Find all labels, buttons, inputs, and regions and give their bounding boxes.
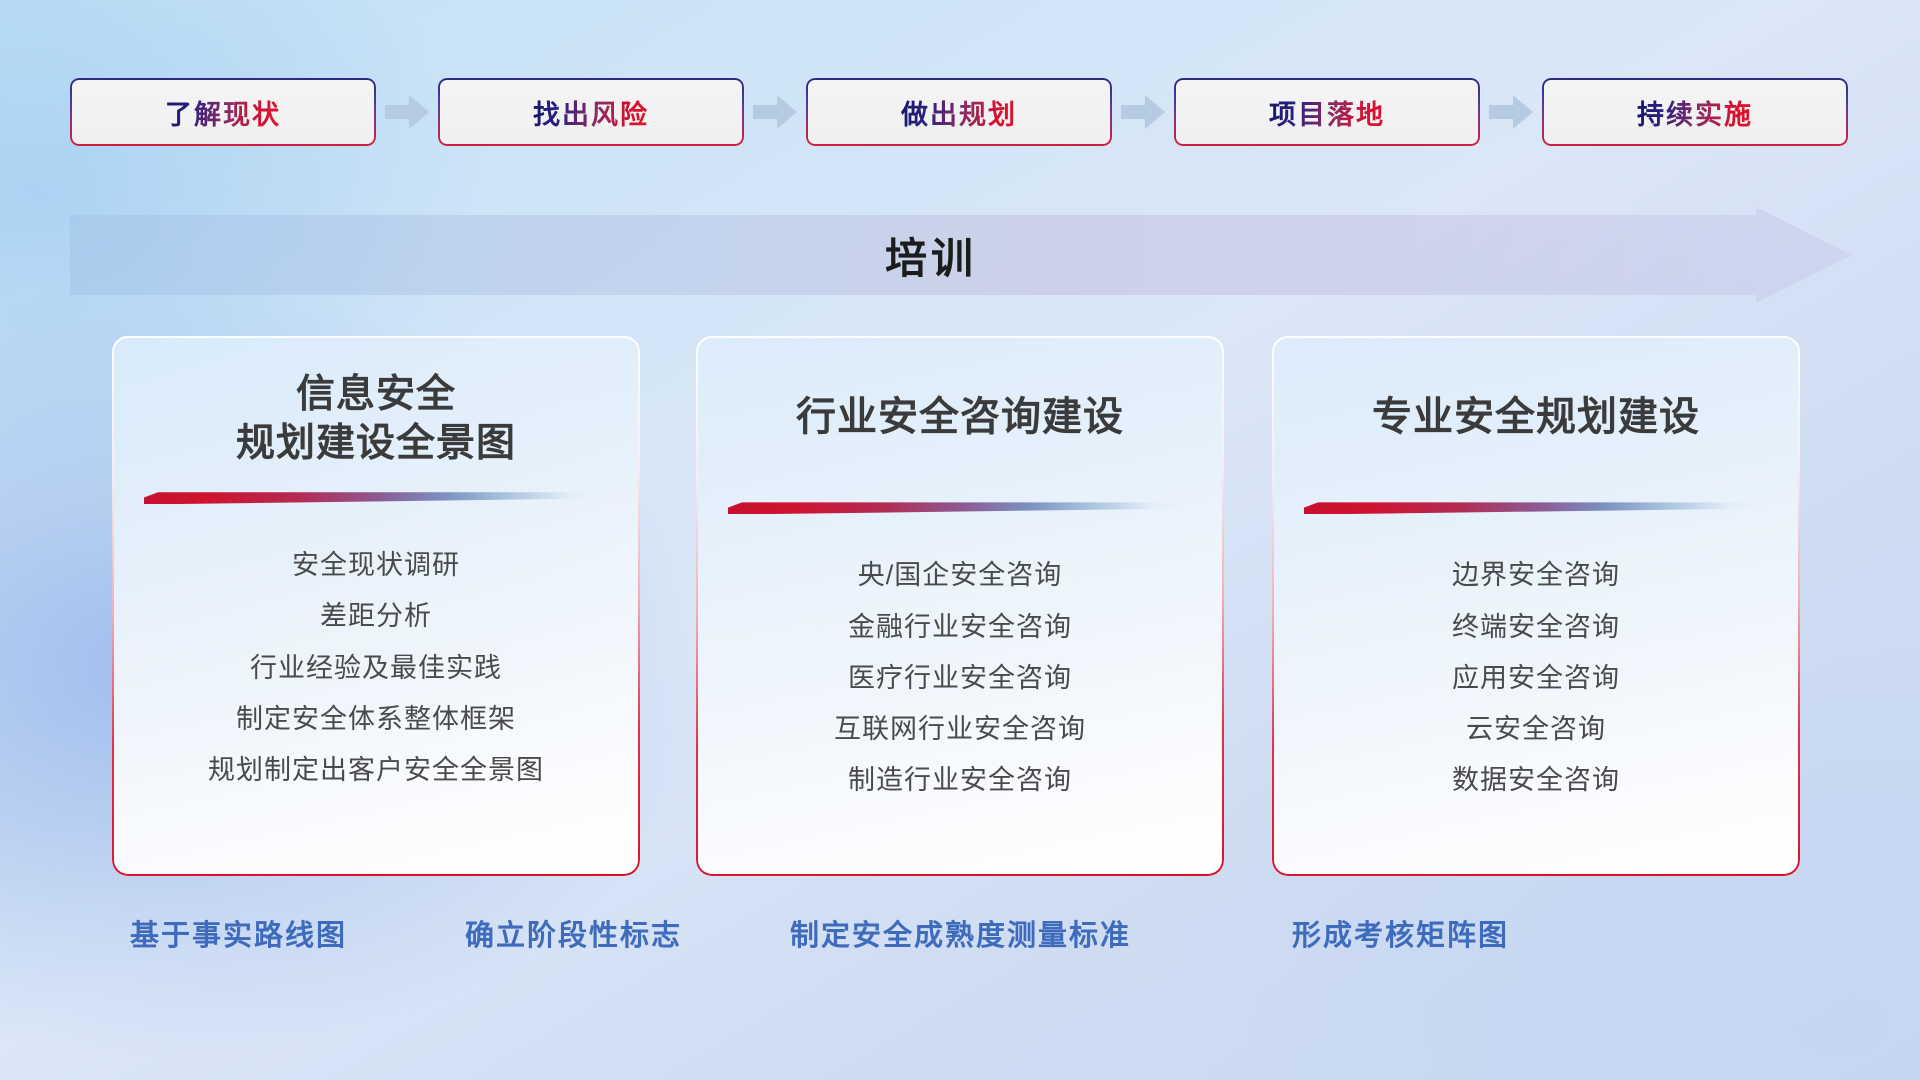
step-label-0: 了解现状 [165,93,281,132]
card-accent-divider [144,492,596,504]
card-title-0: 信息安全 规划建设全景图 [236,370,516,468]
step-box-0[interactable]: 了解现状 [70,78,376,146]
step-box-3[interactable]: 项目落地 [1174,78,1480,146]
arrow-right-icon [376,78,438,146]
card-group: 信息安全 规划建设全景图 安全现状调研 差距分析 行业经验及最佳实践 制定安全体… [0,336,1920,884]
list-item: 终端安全咨询 [1452,608,1620,647]
footnote-0: 基于事实路线图 [130,912,347,954]
card-divider-wrap-1 [722,496,1198,526]
list-item: 应用安全咨询 [1452,659,1620,698]
list-item: 安全现状调研 [292,546,460,585]
step-box-1[interactable]: 找出风险 [438,78,744,146]
banner-title: 培训 [70,207,1852,303]
footnote-3: 形成考核矩阵图 [1292,912,1509,954]
card-accent-divider [1304,502,1756,514]
list-item: 边界安全咨询 [1452,556,1620,595]
card-list-2: 边界安全咨询 终端安全咨询 应用安全咨询 云安全咨询 数据安全咨询 [1298,556,1774,800]
step-box-4[interactable]: 持续实施 [1542,78,1848,146]
card-divider-wrap-0 [138,486,614,516]
list-item: 央/国企安全咨询 [858,556,1063,595]
list-item: 制造行业安全咨询 [848,761,1072,800]
footnote-1: 确立阶段性标志 [465,912,682,954]
card-divider-wrap-2 [1298,496,1774,526]
list-item: 规划制定出客户安全全景图 [208,751,544,790]
card-accent-divider [728,502,1180,514]
step-box-2[interactable]: 做出规划 [806,78,1112,146]
footnote-group: 基于事实路线图 确立阶段性标志 制定安全成熟度测量标准 形成考核矩阵图 [0,912,1920,972]
arrow-right-icon [1480,78,1542,146]
list-item: 行业经验及最佳实践 [250,649,502,688]
training-banner: 培训 [70,207,1852,303]
arrow-right-icon [744,78,806,146]
card-list-1: 央/国企安全咨询 金融行业安全咨询 医疗行业安全咨询 互联网行业安全咨询 制造行… [722,556,1198,800]
list-item: 差距分析 [320,597,432,636]
list-item: 金融行业安全咨询 [848,608,1072,647]
list-item: 数据安全咨询 [1452,761,1620,800]
card-title-2: 专业安全规划建设 [1372,392,1700,442]
list-item: 云安全咨询 [1466,710,1606,749]
process-step-bar: 了解现状 找出风险 做出规划 项目落地 持续实施 [70,78,1850,146]
list-item: 互联网行业安全咨询 [834,710,1086,749]
card-2[interactable]: 专业安全规划建设 边界安全咨询 终端安全咨询 应用安全咨询 云安全咨询 数据安全… [1272,336,1800,876]
card-0[interactable]: 信息安全 规划建设全景图 安全现状调研 差距分析 行业经验及最佳实践 制定安全体… [112,336,640,876]
footnote-2: 制定安全成熟度测量标准 [790,912,1131,954]
card-1[interactable]: 行业安全咨询建设 央/国企安全咨询 金融行业安全咨询 医疗行业安全咨询 互联网行… [696,336,1224,876]
list-item: 医疗行业安全咨询 [848,659,1072,698]
arrow-right-icon [1112,78,1174,146]
step-label-1: 找出风险 [533,93,649,132]
card-title-1: 行业安全咨询建设 [796,392,1124,442]
card-list-0: 安全现状调研 差距分析 行业经验及最佳实践 制定安全体系整体框架 规划制定出客户… [138,546,614,790]
step-label-4: 持续实施 [1637,93,1753,132]
step-label-2: 做出规划 [901,93,1017,132]
step-label-3: 项目落地 [1269,93,1385,132]
list-item: 制定安全体系整体框架 [236,700,516,739]
